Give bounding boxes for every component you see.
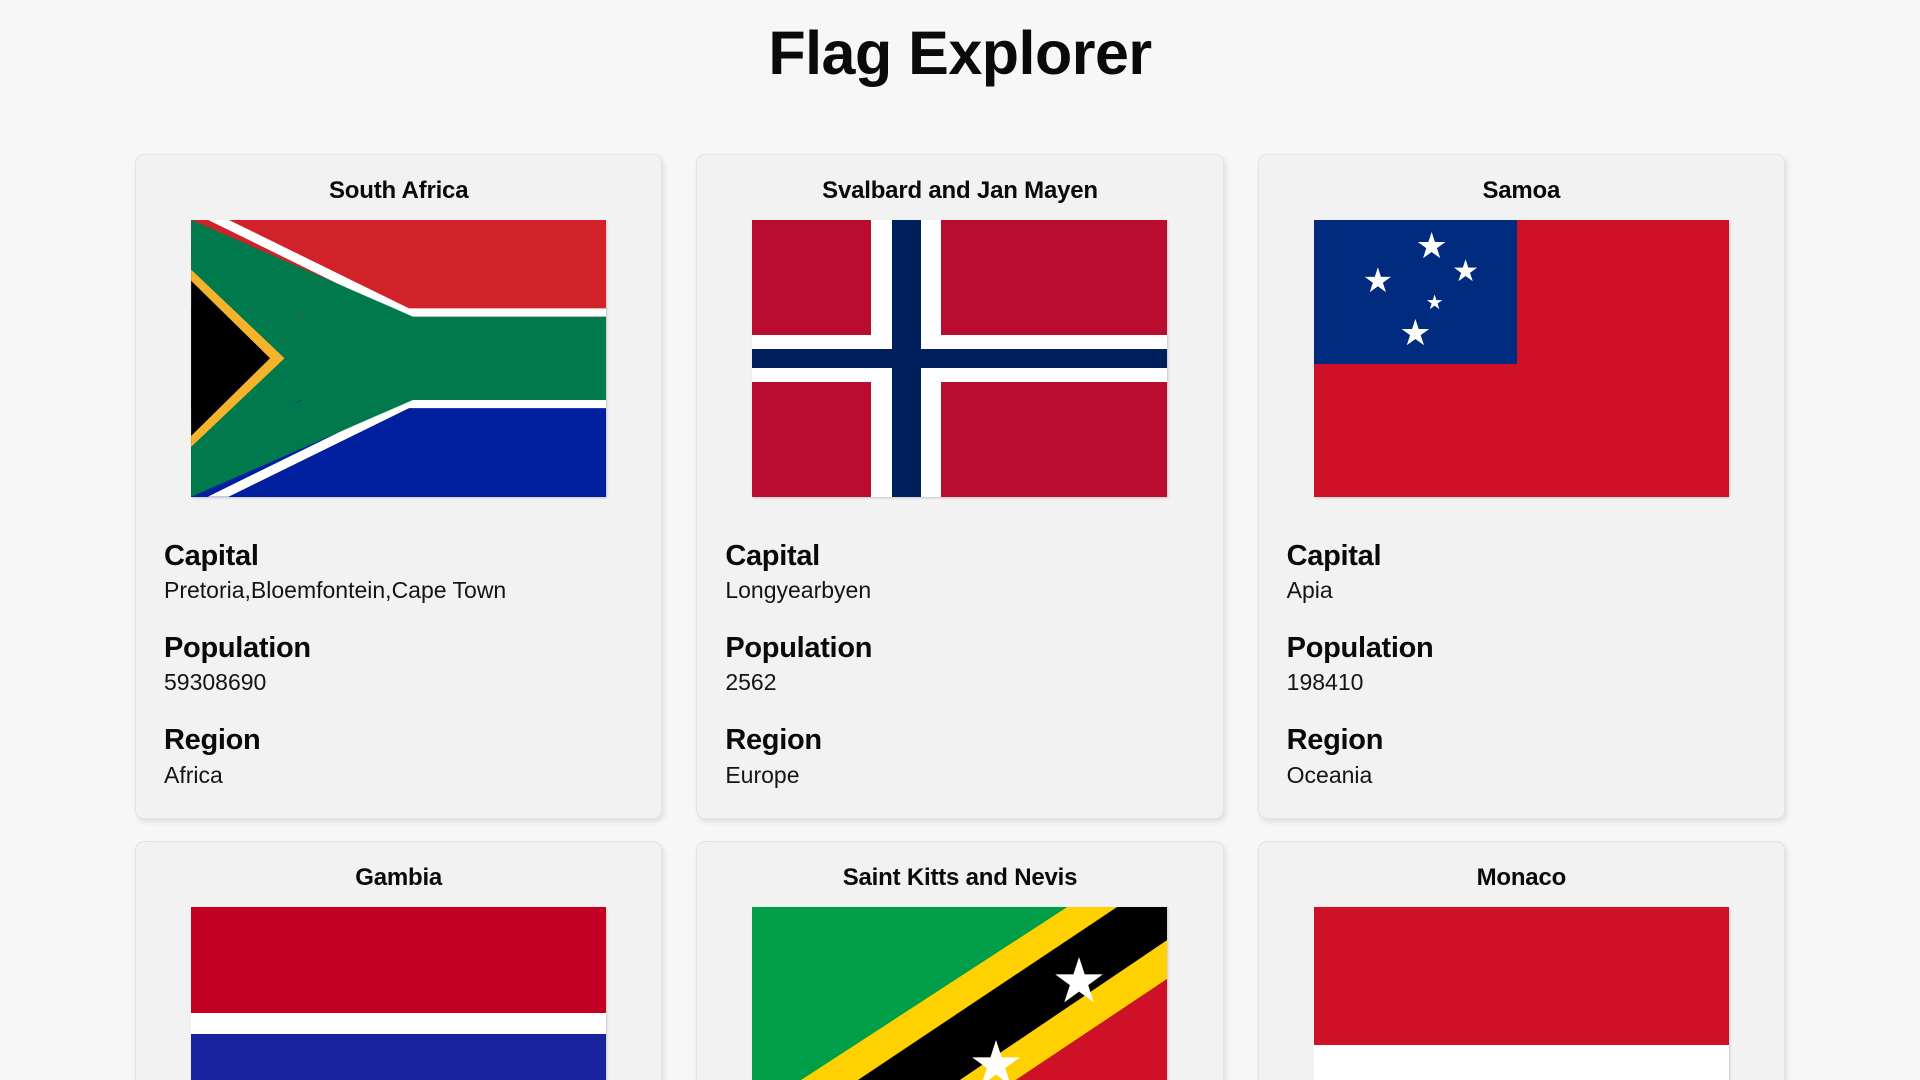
card-title: South Africa [164, 177, 633, 206]
field-value-capital: Apia [1287, 576, 1756, 605]
card-title: Monaco [1287, 864, 1756, 893]
card-title: Svalbard and Jan Mayen [725, 177, 1194, 206]
flag-card-gambia[interactable]: Gambia Capital Population Region [135, 841, 662, 1080]
flag-star-icon: ★ [1399, 315, 1431, 351]
flag-band-white [1314, 1045, 1729, 1080]
field-label-capital: Capital [725, 539, 1194, 574]
field-value-region: Europe [725, 761, 1194, 790]
flag-band-red [191, 907, 606, 1014]
flag-band-white-upper [191, 1013, 606, 1034]
flag-saint-kitts-and-nevis: ★ ★ [752, 907, 1167, 1080]
field-value-capital: Pretoria,Bloemfontein,Cape Town [164, 576, 633, 605]
field-label-region: Region [725, 723, 1194, 758]
field-label-population: Population [164, 631, 633, 666]
flag-star-icon: ★ [1051, 951, 1107, 1013]
flag-samoa: ★ ★ ★ ★ ★ [1314, 220, 1729, 497]
field-region: Region Africa [164, 723, 633, 789]
flag-south-africa [191, 220, 606, 497]
flag-image-wrapper: ★ ★ [725, 907, 1194, 1080]
page-title: Flag Explorer [0, 18, 1920, 90]
flag-star-icon: ★ [968, 1034, 1024, 1080]
flag-band-red [1314, 907, 1729, 1046]
flag-image-wrapper: ★ ★ ★ ★ ★ [1287, 220, 1756, 497]
flag-star-icon: ★ [1363, 264, 1393, 298]
field-capital: Capital Pretoria,Bloemfontein,Cape Town [164, 539, 633, 605]
field-region: Region Oceania [1287, 723, 1756, 789]
field-value-population: 198410 [1287, 668, 1756, 697]
flag-card-grid: South Africa Capital Pretoria,Bloem [0, 154, 1920, 1080]
field-label-capital: Capital [164, 539, 633, 574]
flag-image-wrapper [1287, 907, 1756, 1080]
flag-cross-blue-horizontal [752, 349, 1167, 368]
field-region: Region Europe [725, 723, 1194, 789]
field-population: Population 198410 [1287, 631, 1756, 697]
flag-monaco [1314, 907, 1729, 1080]
flag-image-wrapper [725, 220, 1194, 497]
flag-gambia [191, 907, 606, 1080]
flag-svalbard-and-jan-mayen [752, 220, 1167, 497]
field-label-capital: Capital [1287, 539, 1756, 574]
card-title: Samoa [1287, 177, 1756, 206]
flag-star-icon: ★ [1426, 293, 1444, 313]
field-label-population: Population [725, 631, 1194, 666]
flag-card-monaco[interactable]: Monaco Capital Population Region [1258, 841, 1785, 1080]
field-capital: Capital Longyearbyen [725, 539, 1194, 605]
field-label-population: Population [1287, 631, 1756, 666]
field-value-capital: Longyearbyen [725, 576, 1194, 605]
flag-explorer-page: Flag Explorer South Africa [0, 0, 1920, 1080]
flag-card-samoa[interactable]: Samoa ★ ★ ★ ★ ★ Capital Apia Population [1258, 154, 1785, 819]
field-population: Population 2562 [725, 631, 1194, 697]
field-capital: Capital Apia [1287, 539, 1756, 605]
flag-card-south-africa[interactable]: South Africa Capital Pretoria,Bloem [135, 154, 662, 819]
field-value-population: 59308690 [164, 668, 633, 697]
field-value-region: Oceania [1287, 761, 1756, 790]
flag-image-wrapper [164, 907, 633, 1080]
field-label-region: Region [1287, 723, 1756, 758]
field-label-region: Region [164, 723, 633, 758]
flag-card-saint-kitts-and-nevis[interactable]: Saint Kitts and Nevis ★ ★ Capital Popula… [696, 841, 1223, 1080]
field-population: Population 59308690 [164, 631, 633, 697]
field-value-population: 2562 [725, 668, 1194, 697]
field-value-region: Africa [164, 761, 633, 790]
flag-band-blue [191, 1034, 606, 1080]
card-title: Gambia [164, 864, 633, 893]
flag-star-icon: ★ [1452, 257, 1479, 287]
card-title: Saint Kitts and Nevis [725, 864, 1194, 893]
flag-star-icon: ★ [1415, 228, 1447, 264]
flag-image-wrapper [164, 220, 633, 497]
flag-card-svalbard-and-jan-mayen[interactable]: Svalbard and Jan Mayen Capital Longyearb… [696, 154, 1223, 819]
flag-canton-blue: ★ ★ ★ ★ ★ [1314, 220, 1517, 364]
